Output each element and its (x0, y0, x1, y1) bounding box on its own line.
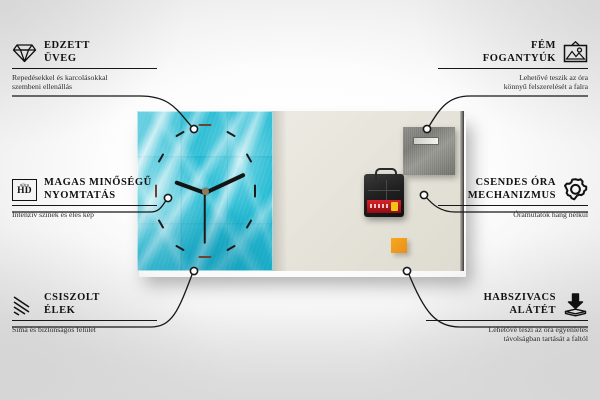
callout-description: Lehetővé teszi az óra egyenletestávolság… (426, 325, 588, 344)
hanger-slot (413, 137, 439, 145)
callout-title-line1: CSISZOLT (44, 292, 100, 303)
callout-title: FÉMFOGANTYÚK (483, 40, 556, 65)
callout-header: ultra HD MAGAS MINŐSÉGŰNYOMTATÁS (12, 177, 157, 202)
callout-tempered-glass: EDZETTÜVEG Repedésekkel és karcolásokkal… (12, 40, 157, 92)
picture-hanger-icon (563, 40, 588, 65)
callout-divider (438, 205, 588, 206)
callout-description: Lehetővé teszik az órakönnyű felszerelés… (438, 73, 588, 92)
gear-icon (563, 177, 588, 202)
polished-edges-icon (12, 292, 37, 317)
callout-header: CSENDES ÓRAMECHANIZMUS (438, 177, 588, 202)
callout-title: CSENDES ÓRAMECHANIZMUS (468, 177, 556, 202)
callout-header: HABSZIVACSALÁTÉT (426, 292, 588, 317)
printed-tempered-glass-clock-face (137, 111, 273, 271)
glass-edge-highlight (137, 111, 273, 271)
callout-desc-line1: Óramutatók hang nélkül (513, 210, 588, 219)
quartz-clock-mechanism (364, 174, 404, 217)
callout-title-line2: NYOMTATÁS (44, 190, 116, 201)
callout-header: EDZETTÜVEG (12, 40, 157, 65)
callout-title-line1: FÉM (531, 40, 556, 51)
metal-hanger-plate (403, 127, 455, 175)
callout-desc-line1: Intenzív színek és éles kép (12, 210, 94, 219)
ultra-hd-icon: ultra HD (12, 177, 37, 202)
callout-silent-mechanism: CSENDES ÓRAMECHANIZMUS Óramutatók hang n… (438, 177, 588, 219)
ultra-hd-badge: ultra HD (12, 179, 37, 201)
callout-title: EDZETTÜVEG (44, 40, 90, 65)
callout-metal-handles: FÉMFOGANTYÚK Lehetővé teszik az órakönny… (438, 40, 588, 92)
back-panel-shading (273, 111, 287, 271)
mechanism-seam-vertical (386, 180, 387, 200)
callout-divider (438, 68, 588, 69)
callout-description: Sima és biztonságos felület (12, 325, 157, 335)
callout-polished-edges: CSISZOLTÉLEK Sima és biztonságos felület (12, 292, 157, 334)
callout-title-line2: MECHANIZMUS (468, 190, 556, 201)
callout-title-line1: MAGAS MINŐSÉGŰ (44, 177, 152, 188)
mechanism-seam (368, 190, 400, 191)
battery-positive-terminal (391, 202, 398, 211)
foam-spacer-pad (391, 238, 407, 253)
callout-foam-underlay: HABSZIVACSALÁTÉT Lehetővé teszi az óra e… (426, 292, 588, 344)
callout-desc-line2: szembeni ellenállás (12, 82, 72, 91)
callout-desc-line1: Sima és biztonságos felület (12, 325, 96, 334)
callout-desc-line2: távolságban tartását a faltól (504, 334, 588, 343)
callout-desc-line1: Repedésekkel és karcolásokkal (12, 73, 108, 82)
callout-title-line1: HABSZIVACS (484, 292, 556, 303)
callout-title-line2: ALÁTÉT (510, 305, 556, 316)
callout-description: Óramutatók hang nélkül (438, 210, 588, 220)
callout-header: FÉMFOGANTYÚK (438, 40, 588, 65)
callout-high-quality-print: ultra HD MAGAS MINŐSÉGŰNYOMTATÁS Intenzí… (12, 177, 157, 219)
callout-title: MAGAS MINŐSÉGŰNYOMTATÁS (44, 177, 152, 202)
callout-divider (12, 68, 157, 69)
callout-divider (12, 320, 157, 321)
mechanism-hook (375, 168, 397, 180)
callout-title: HABSZIVACSALÁTÉT (484, 292, 556, 317)
callout-description: Intenzív színek és éles kép (12, 210, 157, 220)
callout-header: CSISZOLTÉLEK (12, 292, 157, 317)
callout-title-line1: EDZETT (44, 40, 90, 51)
diamond-icon (12, 40, 37, 65)
product-image (137, 111, 464, 271)
callout-title-line1: CSENDES ÓRA (476, 177, 556, 188)
callout-divider (426, 320, 588, 321)
callout-title-line2: ÜVEG (44, 53, 77, 64)
foam-pad-arrow-icon (563, 292, 588, 317)
callout-title: CSISZOLTÉLEK (44, 292, 100, 317)
battery-label (370, 204, 390, 208)
infographic-canvas: EDZETTÜVEG Repedésekkel és karcolásokkal… (0, 0, 600, 400)
metal-texture (403, 127, 455, 175)
callout-title-line2: ÉLEK (44, 305, 75, 316)
callout-desc-line1: Lehetővé teszik az óra (519, 73, 588, 82)
ultra-hd-hd-text: HD (17, 187, 32, 197)
callout-description: Repedésekkel és karcolásokkalszembeni el… (12, 73, 157, 92)
callout-title-line2: FOGANTYÚK (483, 53, 556, 64)
callout-desc-line2: könnyű felszerelését a falra (504, 82, 588, 91)
battery (367, 200, 401, 213)
callout-divider (12, 205, 157, 206)
callout-desc-line1: Lehetővé teszi az óra egyenletes (489, 325, 588, 334)
